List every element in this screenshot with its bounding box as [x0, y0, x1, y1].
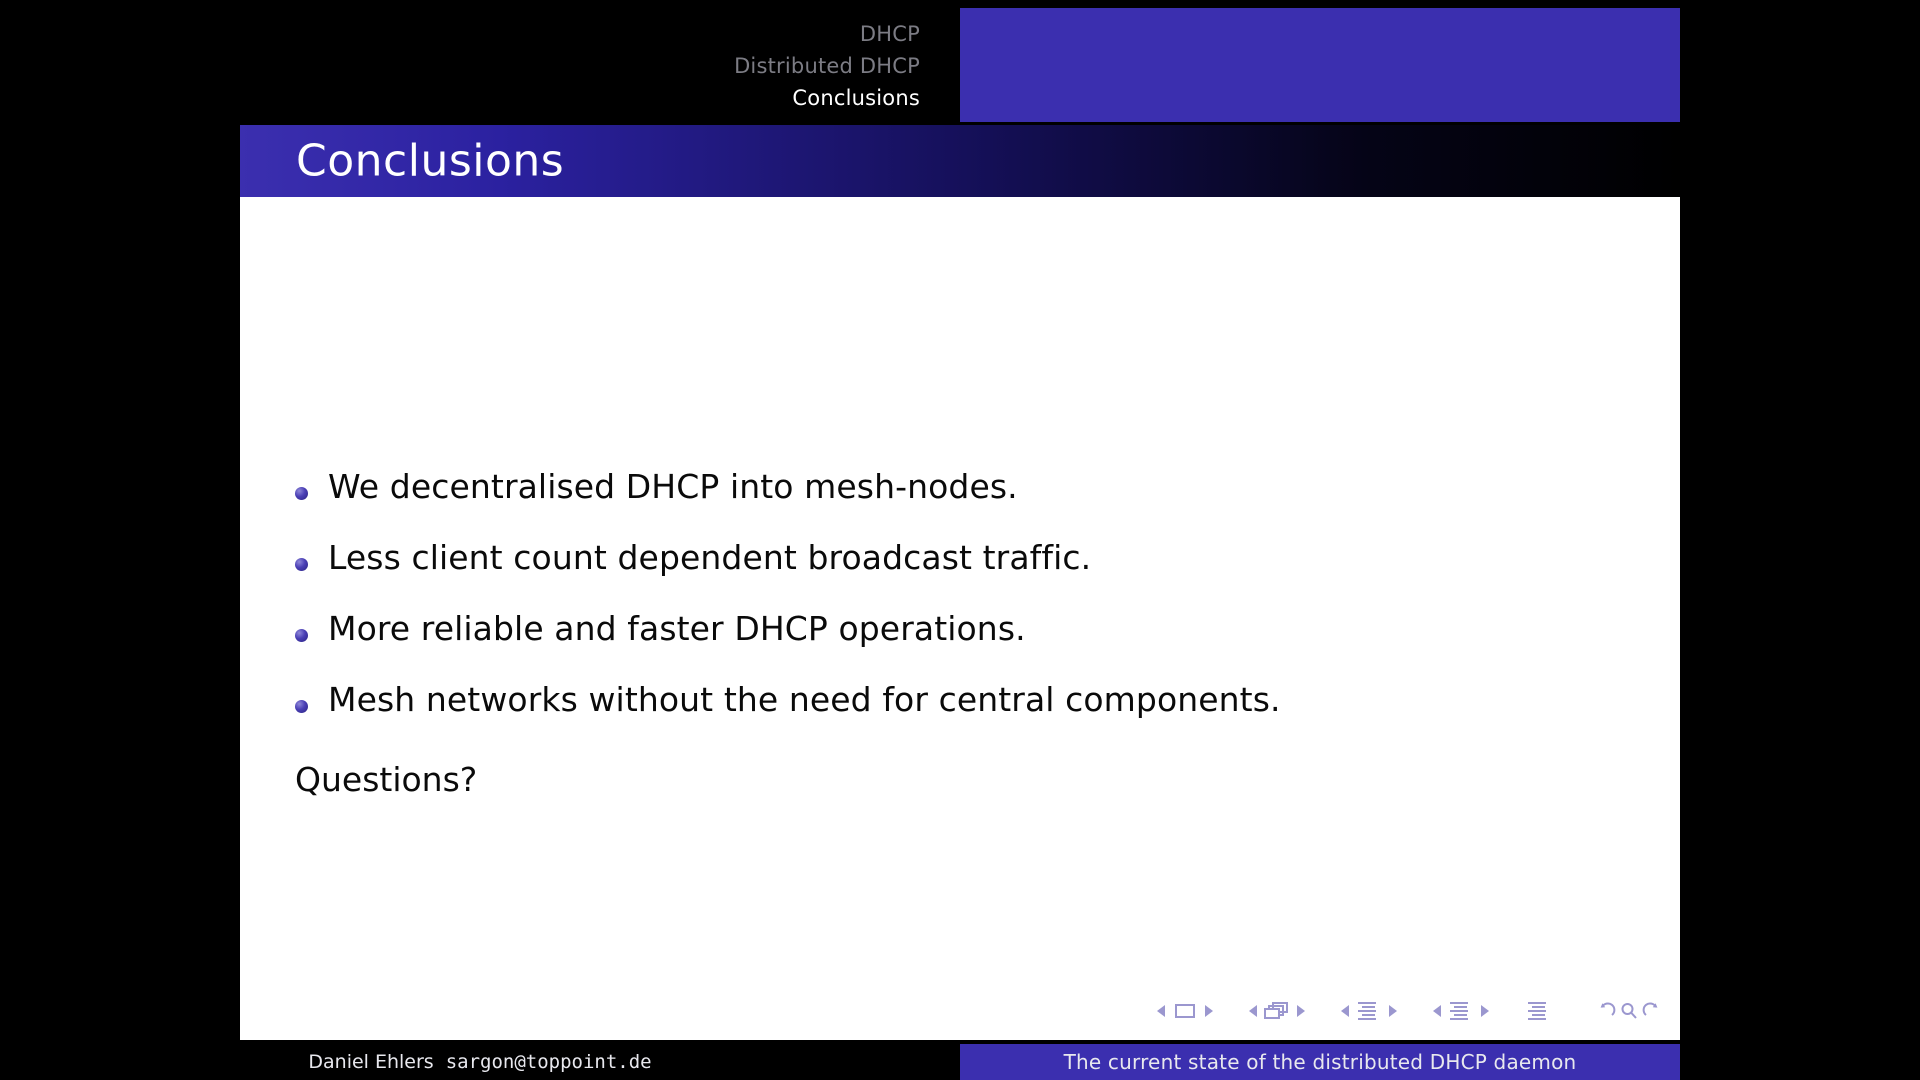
subsection-navigation-group: [1334, 1001, 1404, 1021]
nav-section-conclusions[interactable]: Conclusions: [792, 83, 920, 113]
utility-navigation-group: [1596, 1001, 1662, 1021]
list-item: More reliable and faster DHCP operations…: [295, 609, 1625, 649]
section-lines-icon[interactable]: [1448, 1001, 1474, 1021]
bullet-point-icon: [295, 700, 308, 713]
back-icon[interactable]: [1596, 1001, 1616, 1021]
prev-section-icon[interactable]: [1433, 1005, 1441, 1017]
footer-presentation-title: The current state of the distributed DHC…: [1064, 1050, 1577, 1074]
forward-icon[interactable]: [1642, 1001, 1662, 1021]
nav-section-distributed-dhcp[interactable]: Distributed DHCP: [734, 51, 920, 81]
nav-section-dhcp[interactable]: DHCP: [860, 19, 920, 49]
footer-filler: [1680, 1044, 1920, 1080]
footer-author: Daniel Ehlers: [308, 1051, 433, 1073]
header-accent-block: [960, 8, 1680, 122]
footer-title-block: The current state of the distributed DHC…: [960, 1044, 1680, 1080]
bullet-point-icon: [295, 558, 308, 571]
beamer-navigation-symbols: [1150, 996, 1662, 1026]
bullet-point-icon: [295, 487, 308, 500]
list-item: Less client count dependent broadcast tr…: [295, 538, 1625, 578]
list-item: We decentralised DHCP into mesh-nodes.: [295, 467, 1625, 507]
list-item: Mesh networks without the need for centr…: [295, 680, 1625, 720]
prev-subsection-icon[interactable]: [1341, 1005, 1349, 1017]
next-subsection-icon[interactable]: [1389, 1005, 1397, 1017]
section-navigation-list: DHCP Distributed DHCP Conclusions: [0, 12, 940, 120]
search-icon[interactable]: [1619, 1001, 1639, 1021]
bullet-text: Less client count dependent broadcast tr…: [328, 538, 1091, 578]
next-frame-icon[interactable]: [1297, 1005, 1305, 1017]
single-frame-icon[interactable]: [1172, 1001, 1198, 1021]
subsection-lines-icon[interactable]: [1356, 1001, 1382, 1021]
presentation-viewport: DHCP Distributed DHCP Conclusions Conclu…: [0, 0, 1920, 1080]
slide-content-area: We decentralised DHCP into mesh-nodes. L…: [240, 197, 1680, 1040]
bullet-text: More reliable and faster DHCP operations…: [328, 609, 1026, 649]
frame-navigation-group: [1242, 1001, 1312, 1021]
stacked-frames-icon[interactable]: [1264, 1001, 1290, 1021]
document-lines-icon[interactable]: [1526, 1001, 1552, 1021]
slide-navigation-group: [1150, 1001, 1220, 1021]
presentation-navigation-group: [1526, 1001, 1552, 1021]
slide: Conclusions We decentralised DHCP into m…: [240, 125, 1680, 1040]
bullet-text: We decentralised DHCP into mesh-nodes.: [328, 467, 1018, 507]
prev-slide-icon[interactable]: [1157, 1005, 1165, 1017]
prev-frame-icon[interactable]: [1249, 1005, 1257, 1017]
closing-text: Questions?: [295, 760, 477, 799]
bullet-point-icon: [295, 629, 308, 642]
slide-title-bar: Conclusions: [240, 125, 1680, 197]
footer-email: sargon@toppoint.de: [446, 1051, 652, 1073]
section-navigation-group: [1426, 1001, 1496, 1021]
next-slide-icon[interactable]: [1205, 1005, 1213, 1017]
bullet-list: We decentralised DHCP into mesh-nodes. L…: [295, 467, 1625, 751]
footer-author-block: Daniel Ehlers sargon@toppoint.de: [0, 1044, 960, 1080]
next-section-icon[interactable]: [1481, 1005, 1489, 1017]
footer-bar: Daniel Ehlers sargon@toppoint.de The cur…: [0, 1044, 1920, 1080]
bullet-text: Mesh networks without the need for centr…: [328, 680, 1281, 720]
slide-title: Conclusions: [296, 136, 564, 187]
